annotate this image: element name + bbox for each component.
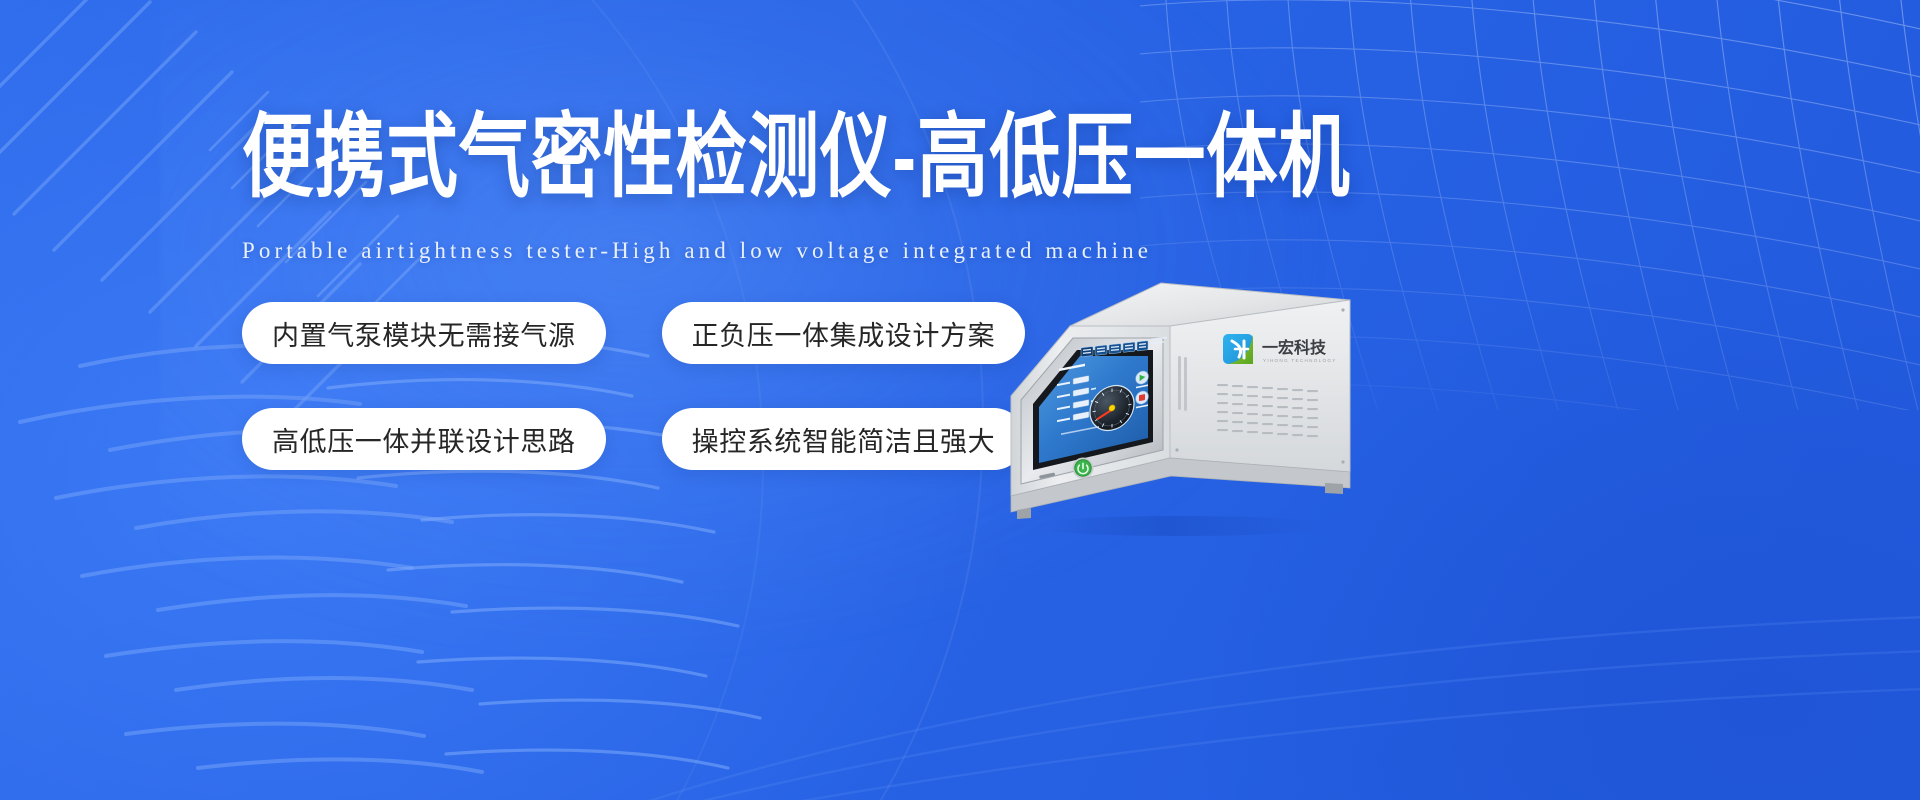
brand-name-en: YIHONG TECHNOLOGY — [1263, 358, 1337, 363]
headline-block: 便携式气密性检测仪-高低压一体机 Portable airtightness t… — [242, 108, 1362, 264]
feature-pill-group: 内置气泵模块无需接气源 正负压一体集成设计方案 高低压一体并联设计思路 操控系统… — [242, 302, 1025, 470]
product-device-image: 一宏科技 YIHONG TECHNOLOGY — [965, 260, 1395, 540]
screw-bottom-left — [1175, 448, 1178, 451]
page-title: 便携式气密性检测仪-高低压一体机 — [242, 108, 1351, 208]
screw-bottom-right — [1341, 460, 1344, 463]
device-illustration: 一宏科技 YIHONG TECHNOLOGY — [965, 260, 1395, 540]
device-front-face — [1170, 300, 1350, 472]
feature-pill-3[interactable]: 高低压一体并联设计思路 — [242, 408, 606, 470]
power-button[interactable] — [1073, 458, 1094, 479]
device-shadow — [1030, 516, 1330, 536]
feature-pill-1[interactable]: 内置气泵模块无需接气源 — [242, 302, 606, 364]
device-foot-right — [1325, 483, 1343, 494]
stop-icon — [1139, 394, 1145, 401]
brand-name-cn: 一宏科技 — [1262, 338, 1327, 357]
hero-banner: 便携式气密性检测仪-高低压一体机 Portable airtightness t… — [0, 0, 1920, 800]
screw-top-right — [1341, 308, 1344, 311]
